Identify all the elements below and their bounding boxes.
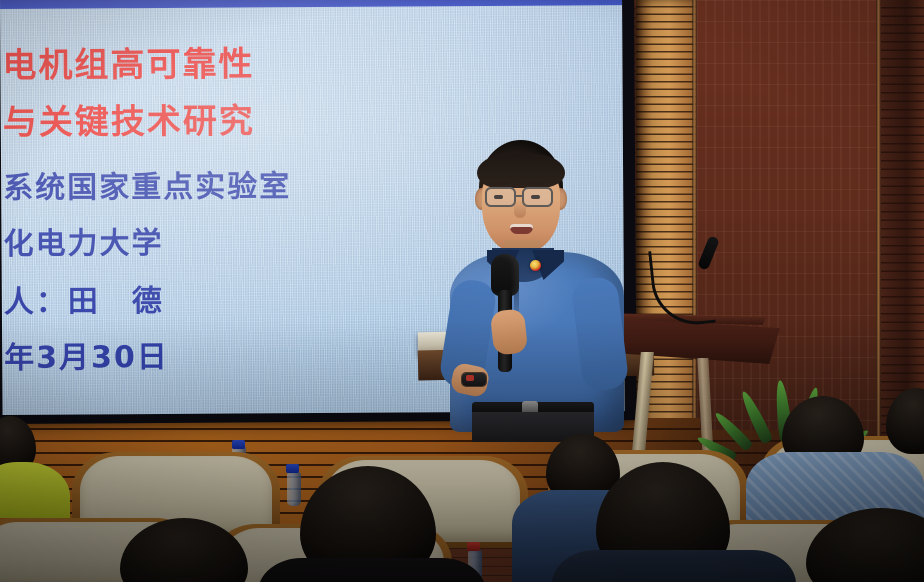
slide-title-line-1: 电机组高可靠性: [2, 36, 254, 87]
slide-date-line: 年3月30日: [4, 332, 169, 377]
audience-shoulders-front-center: [258, 558, 486, 582]
slide-org-line-2: 化电力大学: [3, 218, 163, 263]
slide-presenter-line: 人：田 德: [4, 276, 164, 321]
audience-shoulders-yellow: [0, 462, 70, 518]
party-emblem-pin-icon: [530, 260, 541, 271]
bottle-cap-far: [232, 440, 245, 449]
speaker-person: [444, 140, 634, 430]
audience-area: [0, 400, 924, 582]
slide-top-band: [0, 0, 622, 9]
glasses-lens-left: [485, 187, 516, 207]
speaker-nose: [514, 200, 526, 218]
water-bottle-center: [287, 472, 301, 506]
speaker-mouth: [510, 224, 533, 234]
audience-shoulders-front-right: [552, 550, 796, 582]
glasses-lens-right: [522, 187, 553, 207]
bottle-cap-red: [467, 542, 480, 551]
presentation-photo-scene: 电机组高可靠性 与关键技术研究 系统国家重点实验室 化电力大学 人：田 德 年3…: [0, 0, 924, 582]
clicker-button-icon: [466, 375, 474, 381]
speaker-hand-holding-mic: [490, 308, 528, 355]
bottle-cap-center: [286, 464, 299, 473]
slide-title-line-2: 与关键技术研究: [3, 93, 255, 144]
glasses-bridge: [516, 195, 524, 197]
slide-org-line-1: 系统国家重点实验室: [3, 161, 291, 207]
